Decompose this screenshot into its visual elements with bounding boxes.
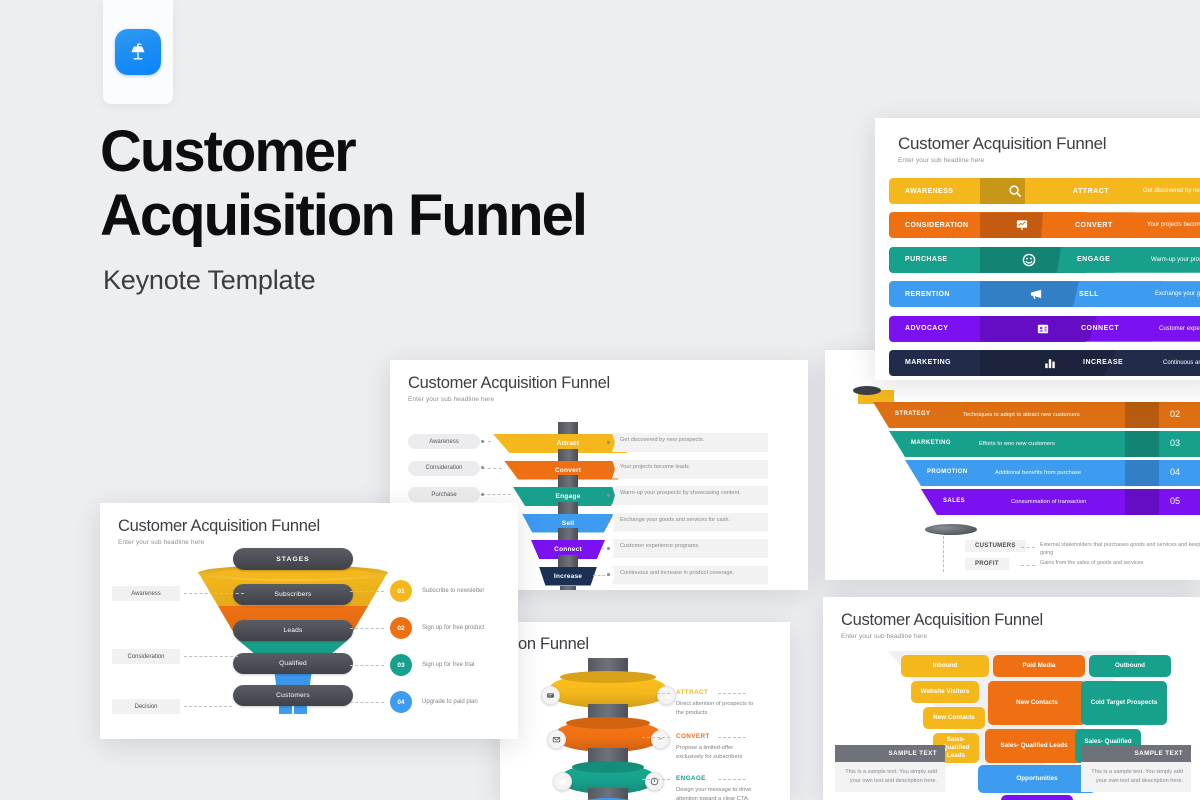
slide-triangle[interactable]: Customer Acquisition Funnel Enter your s… — [823, 597, 1200, 800]
ribbon-rows: AWARENESSATTRACTGet discovered by new pr… — [875, 178, 1200, 368]
ring-description: Propose a limited-offer exclusively for … — [676, 744, 760, 761]
funnel-right-desc: Customer experience programs. — [612, 539, 768, 558]
ribbon-row[interactable]: MARKETINGINCREASEContinuous and increase — [875, 350, 1200, 376]
ring-badge-right[interactable] — [657, 686, 676, 705]
numbered-bar-number: 04 — [1170, 467, 1180, 477]
ribbon-row[interactable]: PURCHASEENGAGEWarm-up your prospects — [875, 247, 1200, 273]
cone-right-connector — [350, 628, 384, 630]
slide-cone-3d[interactable]: Customer Acquisition Funnel Enter your s… — [100, 503, 518, 739]
sample-text-card-body: This is a sample text. You simply add yo… — [835, 762, 945, 792]
ribbon-keyword: ATTRACT — [1073, 178, 1109, 204]
funnel-neck — [558, 475, 578, 489]
numbered-bar-number: 05 — [1170, 496, 1180, 506]
numbered-bar-label: MARKETING — [911, 440, 951, 446]
smiley-icon — [1022, 253, 1036, 267]
ribbon-row[interactable]: RERENTIONSELLExchange your goods and ser… — [875, 281, 1200, 307]
slide-ribbons[interactable]: Customer Acquisition Funnel Enter your s… — [875, 118, 1200, 380]
funnel-left-connector — [482, 494, 511, 496]
ribbon-stage-label: PURCHASE — [889, 256, 947, 263]
numbered-bar-text: Efforts to woo new customers — [979, 441, 1055, 447]
ribbon-keyword: CONNECT — [1081, 316, 1119, 342]
slide-triangle-subtitle: Enter your sub headline here — [841, 633, 1200, 640]
cone-left-connector — [184, 593, 244, 595]
funnel-right-desc: Continuous and increase in product cover… — [612, 566, 768, 585]
slide-ribbons-header: Customer Acquisition Funnel Enter your s… — [875, 118, 1200, 164]
cone-stage-pill[interactable]: Customers — [233, 685, 353, 706]
numbered-bar-number: 03 — [1170, 438, 1180, 448]
triangle-block[interactable]: Cold Target Prospects — [1081, 681, 1167, 725]
funnel-left-connector-dot — [481, 493, 484, 496]
triangle-block[interactable]: Paid Media — [993, 655, 1085, 677]
cone-footer-spine — [943, 536, 945, 572]
cone-top-ellipse — [853, 386, 881, 395]
numbered-bar-row[interactable]: SALESConsummation of transaction05 — [825, 489, 1200, 515]
ribbon-keyword: ENGAGE — [1077, 247, 1110, 273]
triangle-block[interactable]: New Contacts — [988, 681, 1086, 725]
cone-footer-label: CUSTUMERS — [965, 540, 1026, 552]
cone-right-connector — [350, 702, 384, 704]
ribbon-description: Your projects become leads — [1147, 212, 1200, 238]
presentation-icon — [1015, 218, 1029, 232]
triangle-block[interactable]: Outbound — [1089, 655, 1171, 677]
slide-v-funnel-subtitle: Enter your sub headline here — [408, 396, 808, 403]
triangle-block[interactable]: Sales- Qualified Leads — [985, 729, 1083, 763]
funnel-neck — [558, 422, 578, 436]
slide-rings-title: on Funnel — [518, 635, 790, 654]
sample-text-card[interactable]: SAMPLE TEXTThis is a sample text. You si… — [835, 745, 945, 792]
cone-right-connector — [350, 665, 384, 667]
megaphone-icon — [1029, 287, 1043, 301]
cone-footer-label: PROFIT — [965, 558, 1009, 570]
ribbon-stage-label: MARKETING — [889, 359, 951, 366]
ribbon-keyword: SELL — [1079, 281, 1099, 307]
slide-cone-3d-subtitle: Enter your sub headline here — [118, 539, 518, 546]
poster-canvas: Customer Acquisition Funnel Keynote Temp… — [0, 0, 1200, 800]
ring-connector-right — [718, 737, 746, 739]
ribbon-row[interactable]: ADVOCACYCONNECTCustomer experience progr… — [875, 316, 1200, 342]
funnel-right-connector-dot — [607, 467, 610, 470]
id-card-icon — [1036, 322, 1050, 336]
numbered-bar-label: SALES — [943, 498, 965, 504]
cone-footer-text: Gains from the sales of goods and servic… — [1040, 560, 1200, 568]
cone-3d-stage: STAGESSubscribersLeadsQualifiedCustomers… — [100, 554, 518, 734]
ring-keyword: CONVERT — [676, 733, 710, 740]
funnel-right-desc: Get discovered by new prospects. — [612, 433, 768, 452]
numbered-bar-row[interactable]: PROMOTIONAdditional benefits from purcha… — [825, 460, 1200, 486]
funnel-left-tag[interactable]: Purchase — [408, 487, 480, 502]
funnel-left-connector-dot — [481, 440, 484, 443]
numbered-bar-label: STRATEGY — [895, 411, 930, 417]
funnel-right-desc: Your projects become leads. — [612, 460, 768, 479]
envelope-icon — [552, 735, 561, 744]
funnel-arrow-stem — [560, 586, 576, 591]
slide-rings-header: on Funnel — [500, 622, 790, 654]
ring-top-inner — [572, 761, 644, 773]
cone-number-text: Sign up for free product — [422, 625, 485, 631]
ring-top-inner — [566, 717, 650, 729]
ribbon-description: Warm-up your prospects — [1151, 247, 1200, 273]
numbered-bar-row[interactable]: MARKETINGEfforts to woo new customers03 — [825, 431, 1200, 457]
numbered-bar-text: Consummation of transaction — [1011, 499, 1086, 505]
funnel-neck — [558, 449, 578, 463]
ribbon-stage-label: RERENTION — [889, 291, 950, 298]
hero-subtitle: Keynote Template — [103, 265, 315, 296]
ring-connector-left — [642, 693, 670, 695]
hero-title-line1: Customer — [100, 119, 355, 184]
cone-number-text: Upgrade to paid plan — [422, 699, 478, 705]
funnel-right-desc: Warm-up your prospects by showcasing con… — [612, 486, 768, 505]
hero-title-line2: Acquisition Funnel — [100, 184, 800, 248]
cone-stage-pill[interactable]: Qualified — [233, 653, 353, 674]
cone-right-connector — [350, 591, 384, 593]
numbered-bar-row[interactable]: STRATEGYTechniques to adopt to attract n… — [825, 402, 1200, 428]
ribbon-keyword: INCREASE — [1083, 350, 1123, 376]
funnel-neck — [558, 528, 578, 542]
cone-number-text: Subscribe to newsletter — [422, 588, 484, 594]
ring-connector-left — [642, 779, 670, 781]
slide-triangle-title: Customer Acquisition Funnel — [841, 611, 1200, 630]
ring-badge-left[interactable] — [541, 686, 560, 705]
sample-text-card-header: SAMPLE TEXT — [835, 745, 945, 762]
funnel-right-connector-dot — [607, 520, 610, 523]
ribbon-stage-label: ADVOCACY — [889, 325, 948, 332]
ring-badge-right[interactable] — [645, 772, 664, 791]
funnel-right-connector-dot — [607, 441, 610, 444]
funnel-right-desc: Exchange your goods and services for cas… — [612, 513, 768, 532]
cone-number-badge: 03 — [390, 654, 412, 676]
ribbon-row[interactable]: AWARENESSATTRACTGet discovered by new pr… — [875, 178, 1200, 204]
ring-badge-left[interactable] — [553, 772, 572, 791]
cone-number-text: Sign up for free trial — [422, 662, 474, 668]
triangle-block[interactable]: Inbound — [901, 655, 989, 677]
ring-keyword: ENGAGE — [676, 775, 706, 782]
cone-bottom-ellipse — [925, 524, 977, 535]
numbered-bar-shade — [1125, 489, 1159, 515]
cone-stage-pill[interactable]: Subscribers — [233, 584, 353, 605]
cone-footer-connector — [1021, 547, 1035, 549]
ribbon-icon-slot — [985, 247, 1073, 273]
funnel-neck — [558, 502, 578, 516]
hero-title: Customer Acquisition Funnel — [100, 120, 800, 249]
ribbon-description: Get discovered by new prospects — [1143, 178, 1200, 204]
rings-stage: ATTRACTDirect attention of prospects to … — [500, 658, 790, 798]
cone-left-connector — [184, 706, 232, 708]
funnel-layer[interactable]: Increase — [539, 567, 597, 586]
ring-keyword: ATTRACT — [676, 689, 708, 696]
slide-v-funnel-header: Customer Acquisition Funnel Enter your s… — [390, 360, 808, 403]
cone-number-badge: 02 — [390, 617, 412, 639]
ribbon-description: Exchange your goods and services — [1155, 281, 1200, 307]
slide-numbered-cone[interactable]: STRATEGYTechniques to adopt to attract n… — [825, 350, 1200, 580]
numbered-bar-shade — [1125, 431, 1159, 457]
funnel-left-tag[interactable]: Consideration — [408, 461, 480, 476]
ring-connector-right — [718, 693, 746, 695]
keynote-podium-icon — [115, 29, 161, 75]
ribbon-stage-label: CONSIDERATION — [889, 222, 968, 229]
slide-v-funnel-title: Customer Acquisition Funnel — [408, 374, 808, 393]
numbered-bar-label: PROMOTION — [927, 469, 968, 475]
megaphone-icon — [558, 777, 567, 786]
cone-number-badge: 01 — [390, 580, 412, 602]
cone-left-label: Decision — [112, 699, 180, 714]
ring-description: Direct attention of prospects to the pro… — [676, 700, 760, 717]
funnel-left-tag[interactable]: Awareness — [408, 434, 480, 449]
sample-text-card[interactable]: SAMPLE TEXTThis is a sample text. You si… — [1081, 745, 1191, 792]
ring-connector-right — [718, 779, 746, 781]
ring-connector-left — [642, 737, 670, 739]
ribbon-description: Continuous and increase — [1163, 350, 1200, 376]
ring-badge-left[interactable] — [547, 730, 566, 749]
ribbon-keyword: CONVERT — [1075, 212, 1113, 238]
ring-description: Design your message to drive attention t… — [676, 786, 760, 800]
funnel-left-connector-dot — [481, 466, 484, 469]
cone-left-label: Consideration — [112, 649, 180, 664]
slide-cone-3d-title: Customer Acquisition Funnel — [118, 517, 518, 536]
cone-footer-text: External stakeholders that purchases goo… — [1040, 542, 1200, 558]
cone-left-label: Awareness — [112, 586, 180, 601]
funnel-right-connector-dot — [607, 547, 610, 550]
ribbon-icon-slot — [985, 178, 1045, 204]
ring-badge-right[interactable] — [651, 730, 670, 749]
cone-number-badge: 04 — [390, 691, 412, 713]
slide-cone-3d-header: Customer Acquisition Funnel Enter your s… — [100, 503, 518, 546]
triangle-block[interactable]: New Contacts — [923, 707, 985, 729]
magnifier-icon — [1008, 184, 1022, 198]
funnel-neck — [558, 555, 578, 569]
ribbon-stage-label: AWARENESS — [889, 188, 953, 195]
bar-chart-icon — [1043, 356, 1057, 370]
ribbon-row[interactable]: CONSIDERATIONCONVERTYour projects become… — [875, 212, 1200, 238]
sample-text-card-body: This is a sample text. You simply add yo… — [1081, 762, 1191, 792]
triangle-block[interactable]: Website Visitors — [911, 681, 979, 703]
triangle-bottom-block[interactable]: New Customers — [1001, 795, 1073, 800]
ticket-icon — [546, 691, 555, 700]
slide-ribbons-title: Customer Acquisition Funnel — [898, 134, 1200, 154]
funnel-right-connector-dot — [607, 494, 610, 497]
numbered-bar-number: 02 — [1170, 409, 1180, 419]
ribbon-icon-slot — [985, 281, 1087, 307]
numbered-bar-shade — [1125, 460, 1159, 486]
numbered-bar-shade — [1125, 402, 1159, 428]
app-icon-card — [103, 0, 173, 104]
numbered-bar-text: Techniques to adopt to attract new custo… — [963, 412, 1080, 418]
cone-footer-connector — [1021, 565, 1035, 567]
funnel-right-connector-dot — [607, 573, 610, 576]
funnel-left-connector — [482, 468, 502, 470]
cone-left-connector — [184, 656, 238, 658]
ribbon-description: Customer experience programs — [1159, 316, 1200, 342]
ring-top-inner — [560, 671, 656, 683]
cone-stage-pill[interactable]: Leads — [233, 620, 353, 641]
ribbon-icon-slot — [985, 212, 1059, 238]
numbered-bar-text: Additional benefits from purchase — [995, 470, 1081, 476]
slide-ribbons-subtitle: Enter your sub headline here — [898, 157, 1200, 164]
slide-rings[interactable]: on Funnel ATTRACTDirect attention of pro… — [500, 622, 790, 800]
sample-text-card-header: SAMPLE TEXT — [1081, 745, 1191, 762]
slide-triangle-header: Customer Acquisition Funnel Enter your s… — [823, 597, 1200, 640]
stages-pill[interactable]: STAGES — [233, 548, 353, 570]
triangle-bottom-block[interactable]: Opportunities — [978, 765, 1096, 793]
